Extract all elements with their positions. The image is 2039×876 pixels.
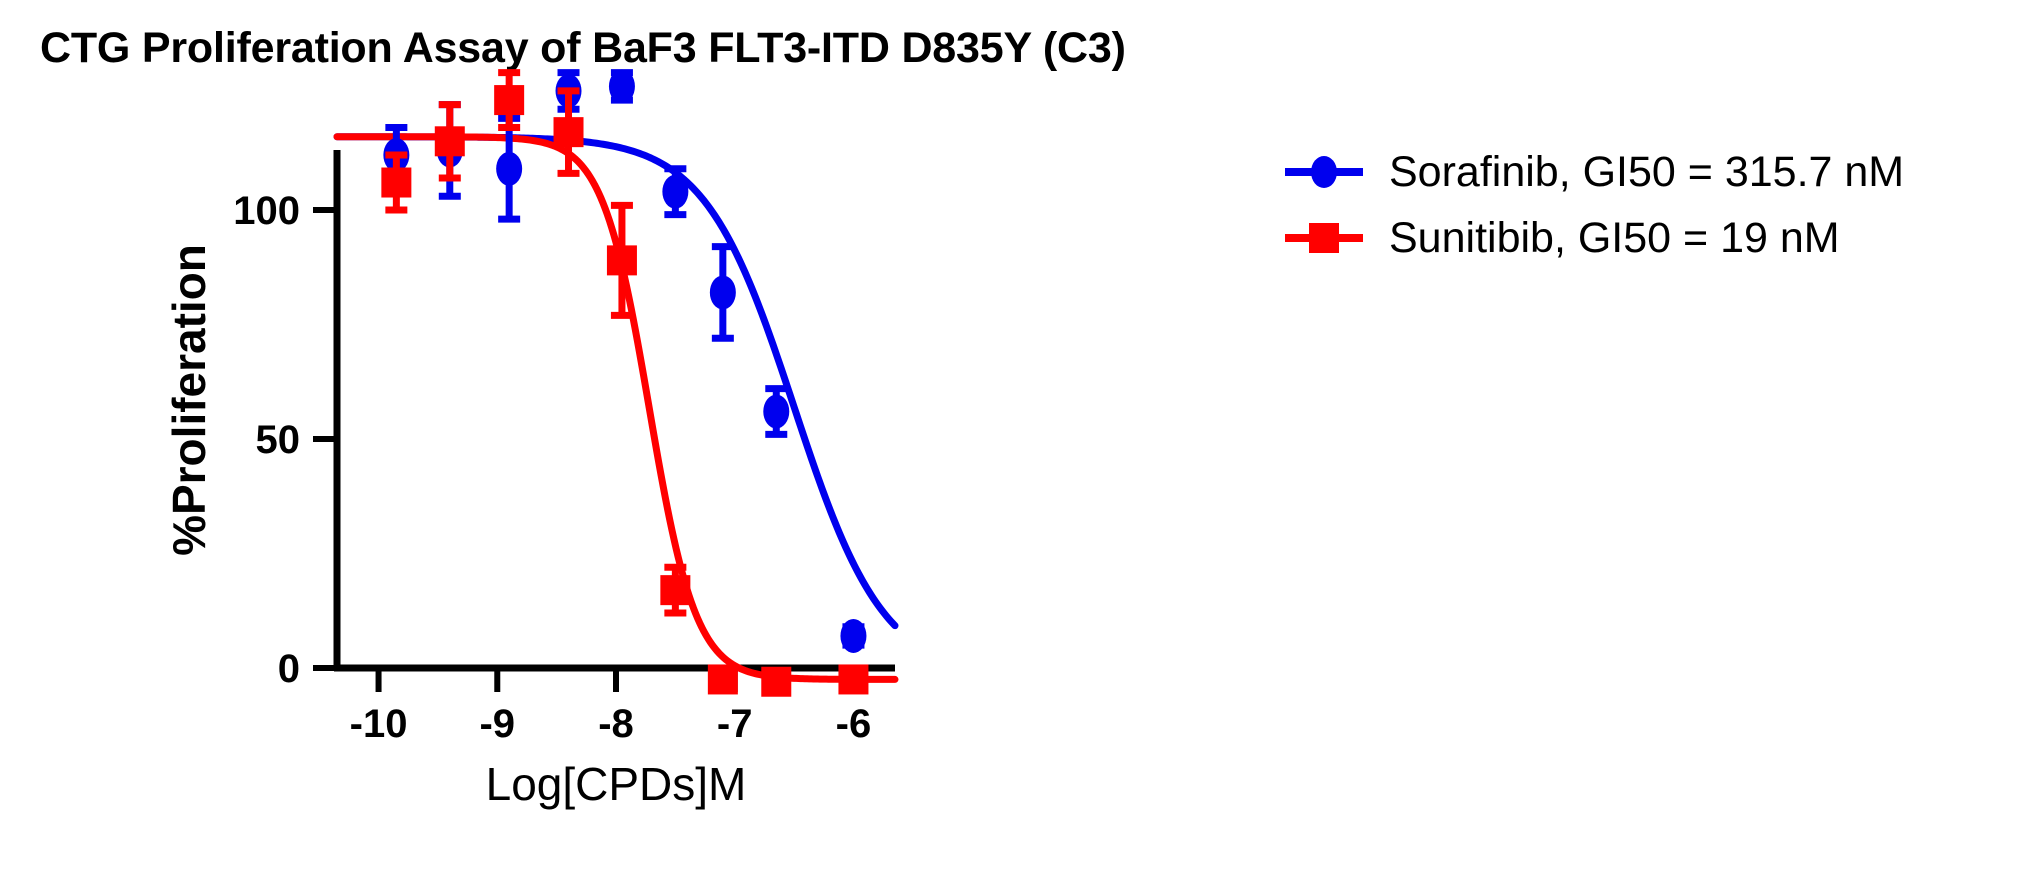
- x-tick-label: -8: [598, 702, 634, 746]
- circle-marker-icon: [1285, 149, 1363, 195]
- data-point-marker-square[interactable]: [761, 667, 791, 697]
- plot-area: -10-9-8-7-6 050100 Log[CPDs]M %Prolifera…: [0, 0, 2039, 876]
- data-point-marker-square[interactable]: [838, 664, 868, 694]
- data-point-marker-square[interactable]: [607, 245, 637, 275]
- x-tick-label: -7: [717, 702, 753, 746]
- chart-legend: Sorafinib, GI50 = 315.7 nM Sunitibib, GI…: [1285, 144, 1904, 276]
- data-point-marker-circle[interactable]: [496, 152, 522, 186]
- data-point-marker-square[interactable]: [494, 85, 524, 115]
- y-tick-label: 0: [278, 647, 300, 691]
- legend-label-sorafinib: Sorafinib, GI50 = 315.7 nM: [1389, 151, 1904, 194]
- data-point-marker-circle[interactable]: [662, 175, 688, 209]
- data-point-marker-square[interactable]: [660, 575, 690, 605]
- data-point-marker-square[interactable]: [708, 664, 738, 694]
- y-axis-title: %Proliferation: [163, 244, 215, 556]
- y-tick-label: 50: [256, 418, 301, 462]
- data-point-marker-square[interactable]: [381, 168, 411, 198]
- legend-item-sunitibib[interactable]: Sunitibib, GI50 = 19 nM: [1285, 210, 1904, 266]
- x-tick-label: -6: [836, 702, 872, 746]
- x-tick-label: -9: [479, 702, 515, 746]
- legend-item-sorafinib[interactable]: Sorafinib, GI50 = 315.7 nM: [1285, 144, 1904, 200]
- square-marker-icon: [1285, 215, 1363, 261]
- y-axis-ticks: 050100: [233, 189, 337, 691]
- data-points: [381, 69, 868, 696]
- x-axis-title: Log[CPDs]M: [486, 758, 747, 810]
- y-tick-label: 100: [233, 189, 300, 233]
- fit-curves: [337, 137, 895, 680]
- data-point-marker-circle[interactable]: [710, 275, 736, 309]
- x-tick-label: -10: [350, 702, 408, 746]
- legend-label-sunitibib: Sunitibib, GI50 = 19 nM: [1389, 217, 1840, 260]
- data-point-marker-circle[interactable]: [609, 69, 635, 103]
- fit-curve-sorafinib: [337, 137, 895, 626]
- data-point-marker-circle[interactable]: [763, 395, 789, 429]
- fit-curve-sunitibib: [337, 137, 895, 680]
- data-point-marker-circle[interactable]: [840, 619, 866, 653]
- chart-figure: CTG Proliferation Assay of BaF3 FLT3-ITD…: [0, 0, 2039, 876]
- data-point-marker-square[interactable]: [435, 126, 465, 156]
- data-point-marker-square[interactable]: [554, 117, 584, 147]
